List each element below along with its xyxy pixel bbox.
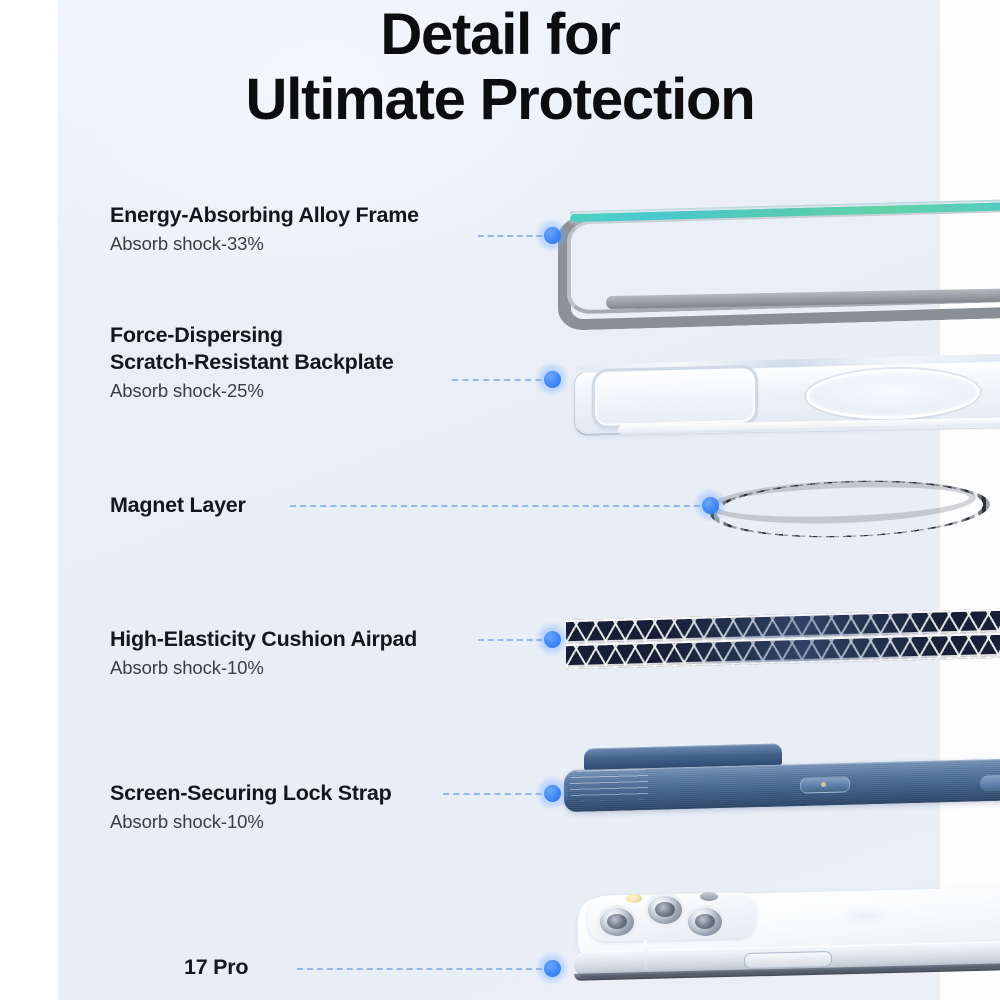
device-antenna-seam	[644, 940, 647, 970]
product-detail-infographic: Detail for Ultimate Protection	[0, 0, 1000, 1000]
lock-strap-ridges	[570, 769, 648, 801]
camera-lens-2	[648, 896, 682, 924]
marker-dot-magnet-layer	[693, 488, 727, 522]
marker-dot-alloy-frame	[535, 218, 569, 252]
backplate-illustration	[548, 345, 1000, 450]
callout-cushion-airpad-subtitle: Absorb shock-10%	[110, 656, 417, 680]
camera-flash-icon	[626, 894, 642, 903]
callout-backplate-subtitle: Absorb shock-25%	[110, 379, 394, 403]
marker-dot-cushion-airpad	[535, 622, 569, 656]
callout-device: 17 Pro	[184, 954, 248, 981]
callout-device-title: 17 Pro	[184, 954, 248, 981]
callout-backplate: Force-Dispersing Scratch-Resistant Backp…	[110, 322, 394, 403]
device-illustration	[548, 872, 1000, 1000]
marker-dot-backplate	[535, 362, 569, 396]
lock-strap-side-button	[800, 776, 850, 793]
marker-dot-lock-strap	[535, 776, 569, 810]
callout-lock-strap: Screen-Securing Lock Strap Absorb shock-…	[110, 780, 391, 834]
callout-lock-strap-subtitle: Absorb shock-10%	[110, 810, 391, 834]
camera-microphone-icon	[700, 892, 718, 901]
page-title: Detail for Ultimate Protection	[0, 2, 1000, 132]
callout-magnet-layer: Magnet Layer	[110, 492, 246, 519]
callout-magnet-layer-title: Magnet Layer	[110, 492, 246, 519]
marker-dot-device	[535, 951, 569, 985]
magnet-ring-segments	[709, 476, 991, 542]
background-left-margin	[0, 0, 58, 1000]
alloy-frame-outline	[558, 203, 1000, 330]
cushion-airpad-illustration	[548, 608, 1000, 670]
magnet-ring-illustration	[690, 475, 1000, 535]
callout-backplate-title: Force-Dispersing Scratch-Resistant Backp…	[110, 322, 394, 376]
leader-line-device	[297, 968, 552, 970]
lock-strap-illustration	[548, 738, 1000, 830]
lock-strap-power-button	[980, 774, 1000, 791]
callout-alloy-frame-title: Energy-Absorbing Alloy Frame	[110, 202, 419, 229]
callout-cushion-airpad-title: High-Elasticity Cushion Airpad	[110, 626, 417, 653]
callout-alloy-frame: Energy-Absorbing Alloy Frame Absorb shoc…	[110, 202, 419, 256]
page-title-line-2: Ultimate Protection	[0, 67, 1000, 132]
callout-alloy-frame-subtitle: Absorb shock-33%	[110, 232, 419, 256]
alloy-frame-illustration	[548, 196, 1000, 321]
leader-line-magnet-layer	[290, 505, 710, 507]
page-title-line-1: Detail for	[0, 2, 1000, 67]
callout-lock-strap-title: Screen-Securing Lock Strap	[110, 780, 391, 807]
device-sim-tray	[744, 951, 832, 969]
camera-lens-3	[688, 908, 722, 936]
backplate-camera-cutout	[592, 365, 758, 429]
callout-cushion-airpad: High-Elasticity Cushion Airpad Absorb sh…	[110, 626, 417, 680]
camera-lens-1	[600, 908, 634, 936]
